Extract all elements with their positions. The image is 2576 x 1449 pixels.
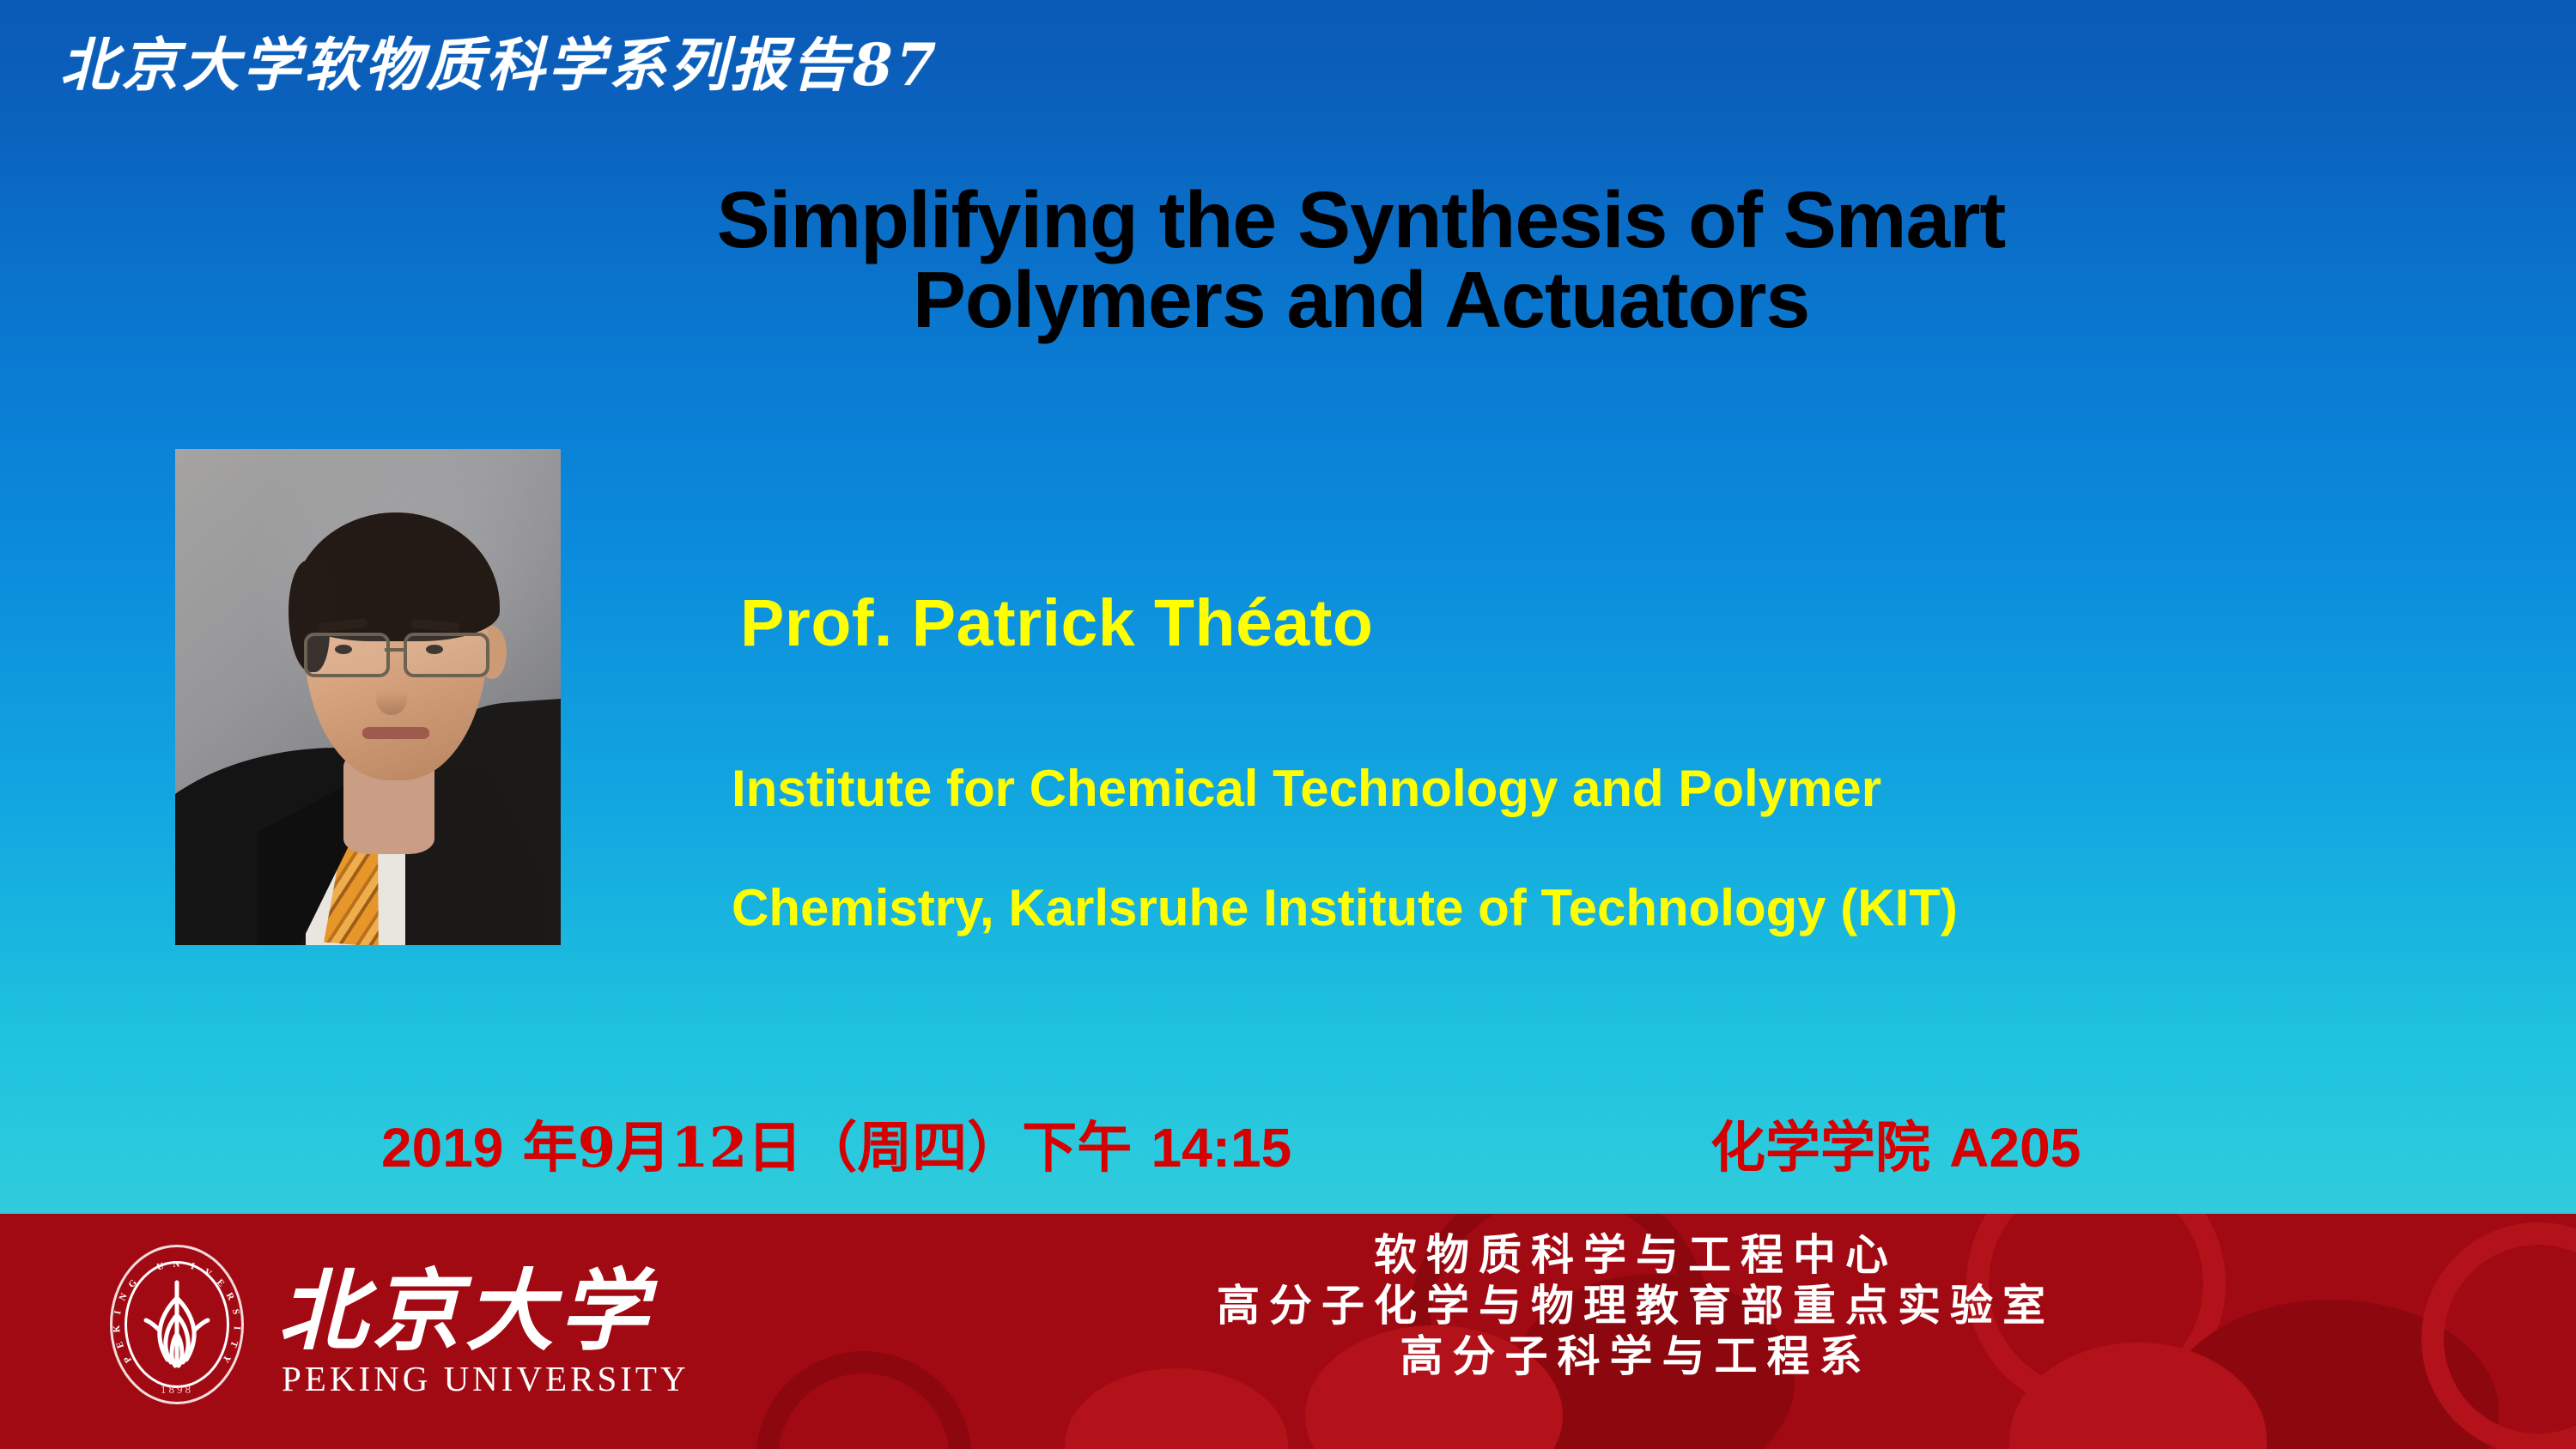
seal-ring-character: I: [232, 1326, 242, 1331]
seal-ring-character: K: [112, 1324, 123, 1332]
seal-year: 1898: [110, 1383, 244, 1397]
nose: [376, 674, 407, 715]
peking-university-logo: PEKINGUNIVERSITY 1898: [110, 1238, 762, 1418]
logo-wordmark-chinese: 北京大学: [278, 1240, 653, 1367]
seal-ring-character: G: [126, 1277, 139, 1290]
event-datetime: 2019 年9月12日（周四）下午 14:15: [381, 1104, 1291, 1183]
university-seal-icon: PEKINGUNIVERSITY 1898: [110, 1245, 244, 1404]
seal-ring-character: I: [190, 1261, 197, 1272]
event-building: 化学学院: [1710, 1116, 1949, 1180]
footer-org-line-3: 高分子科学与工程系: [756, 1331, 2516, 1381]
event-room: A205: [1949, 1117, 2081, 1179]
speaker-name: Prof. Patrick Théato: [740, 585, 1373, 662]
event-year: 2019: [381, 1117, 503, 1179]
eyeglass-bridge: [385, 648, 405, 652]
seal-ring-character: S: [230, 1308, 241, 1316]
footer-org-line-2: 高分子化学与物理教育部重点实验室: [756, 1280, 2516, 1331]
seal-emblem-icon: [139, 1276, 215, 1373]
seal-ring-character: U: [155, 1261, 166, 1273]
event-location: 化学学院 A205: [1710, 1104, 2081, 1183]
speaker-affiliation-line-1: Institute for Chemical Technology and Po…: [732, 759, 1881, 818]
seminar-poster: 北京大学软物质科学系列报告87 Simplifying the Synthesi…: [0, 0, 2576, 1449]
seal-ring-character: I: [112, 1309, 124, 1316]
title-line-1: Simplifying the Synthesis of Smart: [361, 180, 2361, 260]
logo-wordmark-english: PEKING UNIVERSITY: [282, 1358, 690, 1399]
title-line-2: Polymers and Actuators: [361, 260, 2361, 340]
seal-ring-character: N: [118, 1291, 131, 1302]
eyeglass-lens-left: [304, 633, 390, 677]
speaker-affiliation-line-2: Chemistry, Karlsruhe Institute of Techno…: [732, 878, 1958, 937]
portrait-background: [175, 449, 561, 945]
footer-org-line-1: 软物质科学与工程中心: [756, 1229, 2516, 1280]
series-header: 北京大学软物质科学系列报告87: [60, 19, 939, 102]
seal-ring-character: E: [114, 1339, 126, 1349]
page-title: Simplifying the Synthesis of Smart Polym…: [361, 180, 2361, 340]
seal-ring-character: R: [224, 1291, 237, 1302]
seal-ring-character: T: [228, 1339, 240, 1349]
seal-ring-character: Y: [220, 1353, 233, 1365]
event-time: 14:15: [1151, 1117, 1292, 1179]
event-date: 年9月12日（周四）下午: [503, 1116, 1151, 1180]
seal-ring-character: E: [215, 1277, 227, 1289]
mouth: [362, 727, 429, 739]
footer-organisation-block: 软物质科学与工程中心 高分子化学与物理教育部重点实验室 高分子科学与工程系: [756, 1229, 2516, 1381]
speaker-portrait: [175, 449, 561, 945]
seal-ring-character: P: [122, 1354, 134, 1365]
eyeglasses-icon: [301, 629, 500, 676]
seal-ring-character: N: [173, 1259, 181, 1270]
eyeglass-lens-right: [404, 633, 489, 677]
